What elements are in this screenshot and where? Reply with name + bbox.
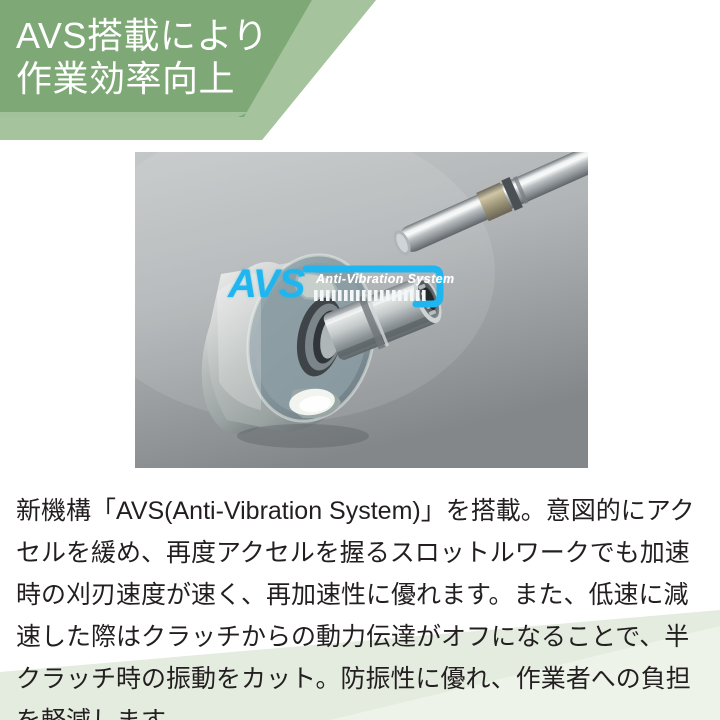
avs-logo: AVS Anti-Vibration System [228, 262, 446, 312]
header-banner: AVS搭載により 作業効率向上 [0, 0, 720, 140]
avs-tick-marks [314, 290, 430, 302]
avs-wordmark: AVS [228, 264, 304, 304]
avs-subtitle: Anti-Vibration System [316, 272, 455, 286]
description-paragraph: 新機構「AVS(Anti-Vibration System)」を搭載。意図的にア… [16, 490, 708, 720]
page-title: AVS搭載により 作業効率向上 [16, 14, 556, 100]
feature-panel: AVS搭載により 作業効率向上 [0, 0, 720, 720]
